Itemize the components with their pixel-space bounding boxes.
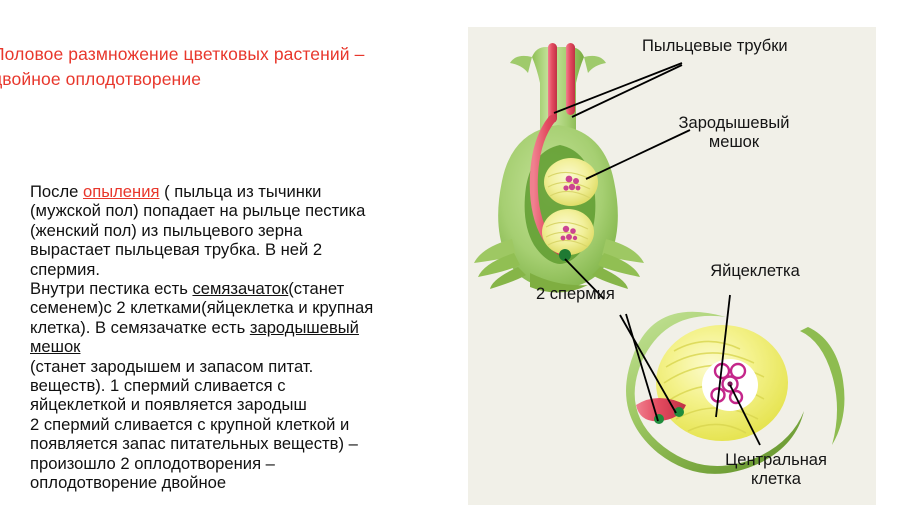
link-opylenie[interactable]: опыления [83,182,159,201]
slide-canvas: Половое размножение цветковых растений –… [0,0,910,512]
stigma-right-lobe [584,56,606,73]
text-run-3: Внутри пестика есть [30,279,192,298]
pollen-tube-right [566,43,575,115]
label-pollen-tubes: Пыльцевые трубки [642,37,852,56]
enlarged-ovule-group [626,312,844,474]
text-run-1: После [30,182,83,201]
leader-pollen-tube-2 [572,65,682,117]
pistil-group [474,43,644,293]
ovule-upper [544,158,598,206]
label-central-cell: Центральная клетка [696,451,856,489]
stigma-left-lobe [510,56,532,73]
label-egg-cell: Яйцеклетка [680,262,830,281]
diagram-panel: Пыльцевые трубки Зародышевый мешок Яйцек… [468,27,876,505]
term-semyazachatok[interactable]: семязачаток [192,279,288,298]
integument-tail [800,327,844,445]
pollen-tube-left [548,43,557,123]
label-two-sperm: 2 спермия [536,285,656,304]
text-run-5: (станет зародышем и запасом питат. вещес… [30,357,358,492]
ovule-lower [542,209,594,255]
paragraph-ovule: Внутри пестика есть семязачаток(станет с… [30,279,450,492]
page-title: Половое размножение цветковых растений –… [0,42,422,92]
paragraph-pollination: После опыления ( пыльца из тычинки (мужс… [30,182,450,279]
body-text-block: После опыления ( пыльца из тычинки (мужс… [30,182,450,493]
label-embryo-sac: Зародышевый мешок [654,114,814,152]
